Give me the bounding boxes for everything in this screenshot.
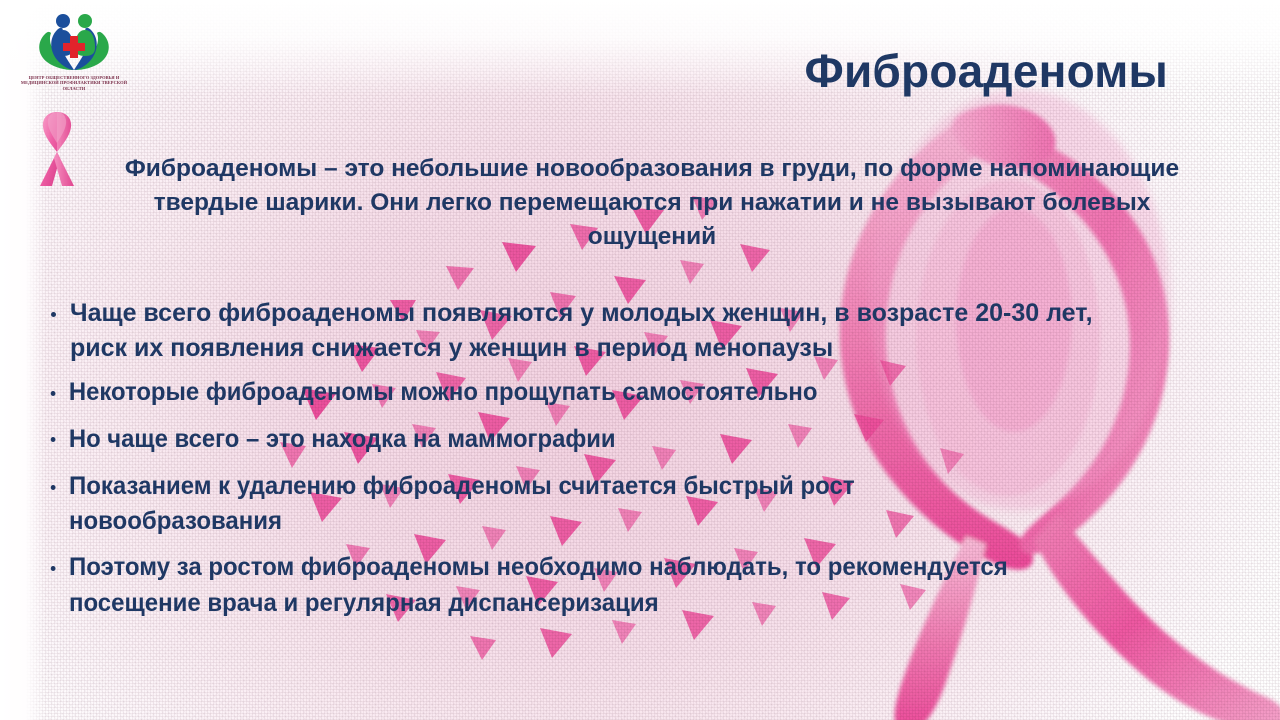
page-title: Фиброаденомы xyxy=(804,44,1168,98)
slide-canvas: ЦЕНТР ОБЩЕСТВЕННОГО ЗДОРОВЬЯ И МЕДИЦИНСК… xyxy=(0,0,1280,720)
bullet-list: Чаще всего фиброаденомы появляются у мол… xyxy=(44,296,1114,621)
pink-awareness-ribbon-icon xyxy=(26,106,88,190)
logo-caption: ЦЕНТР ОБЩЕСТВЕННОГО ЗДОРОВЬЯ И МЕДИЦИНСК… xyxy=(10,75,138,91)
list-item: Поэтому за ростом фиброаденомы необходим… xyxy=(44,550,1071,621)
intro-paragraph: Фиброаденомы – это небольшие новообразов… xyxy=(96,152,1208,254)
list-item: Чаще всего фиброаденомы появляются у мол… xyxy=(44,296,1114,365)
list-item: Показанием к удалению фиброаденомы счита… xyxy=(44,469,1071,539)
organization-logo: ЦЕНТР ОБЩЕСТВЕННОГО ЗДОРОВЬЯ И МЕДИЦИНСК… xyxy=(10,12,138,91)
intro-lead: Фиброаденомы xyxy=(125,155,317,182)
health-center-logo-icon xyxy=(35,12,113,72)
list-item: Но чаще всего – это находка на маммограф… xyxy=(44,422,1066,457)
list-item: Некоторые фиброаденомы можно прощупать с… xyxy=(44,375,1066,410)
